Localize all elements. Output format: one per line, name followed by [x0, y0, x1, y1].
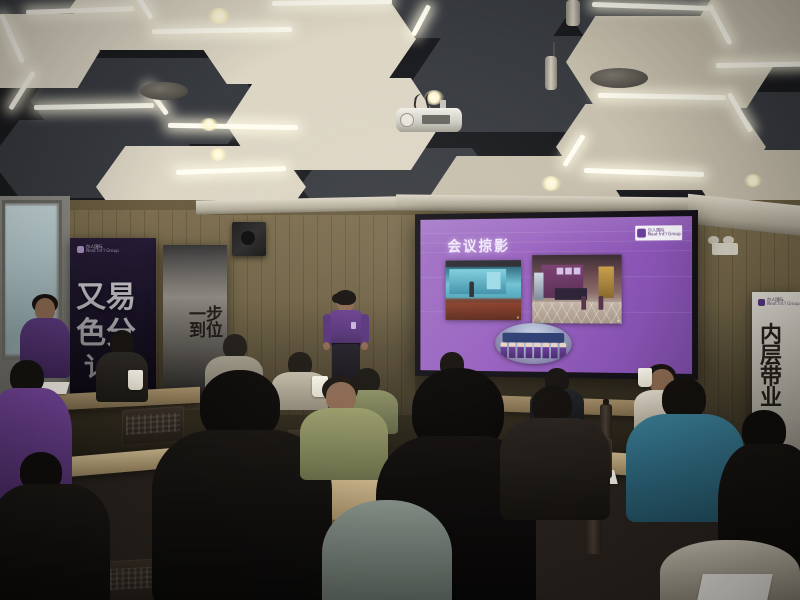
slide-photo-group [495, 323, 572, 364]
air-vent [4, 186, 66, 200]
paper-sheet [697, 574, 773, 600]
venue-doorway [599, 266, 614, 298]
presenter-arm-left [323, 314, 331, 344]
venue-banner-stand [534, 273, 543, 300]
logo-mark-icon [637, 229, 646, 238]
person-body [322, 500, 452, 600]
ceiling-projector [396, 100, 466, 134]
downlight-icon [209, 148, 227, 161]
paper-cup [128, 370, 143, 390]
slide-photo-stage: ● [446, 260, 521, 320]
ceiling-disc [590, 68, 648, 88]
stage-speaker [469, 282, 474, 297]
group-person [543, 343, 550, 359]
pendant-light [566, 0, 580, 26]
audience-person [500, 398, 610, 518]
stage-inset [487, 272, 501, 289]
group-person [560, 343, 567, 359]
exit-sign [712, 243, 738, 255]
conference-room-photo: 会议掠影 尔人国际 Neat Int'l Group ● [0, 0, 800, 600]
audience-person [0, 470, 110, 600]
audience-person [322, 500, 452, 600]
projector-lens [400, 113, 414, 127]
ceiling-disc [140, 82, 188, 100]
stage-floor [446, 303, 521, 321]
presenter-arm-right [361, 314, 369, 344]
hexagonal-ceiling [0, 0, 800, 215]
venue-person [599, 296, 604, 310]
person-body [0, 484, 110, 600]
downlight-icon [744, 174, 762, 187]
paper-cup [638, 368, 652, 387]
led-strip [716, 61, 800, 68]
group-person [509, 342, 516, 358]
slide-logo: 尔人国际 Neat Int'l Group [635, 225, 682, 240]
photo-watermark: ● [617, 319, 620, 323]
projector-indicator [454, 117, 457, 120]
projector-indicator [415, 117, 418, 120]
pendant-light [545, 56, 557, 90]
group-person [501, 342, 507, 358]
venue-backdrop [542, 265, 584, 298]
group-person [526, 343, 533, 359]
group-photo-backdrop [502, 333, 564, 343]
presenter-hand-right [361, 342, 368, 350]
presenter-badge [351, 322, 356, 329]
person-body [500, 418, 610, 520]
slide-title: 会议掠影 [447, 235, 509, 256]
projected-slide: 会议掠影 尔人国际 Neat Int'l Group ● [420, 216, 692, 374]
venue-tile [565, 268, 572, 275]
downlight-icon [208, 8, 230, 24]
presenter-hair [335, 290, 356, 305]
presenter-shirt [329, 310, 363, 346]
person-body [300, 408, 388, 480]
venue-carpet [532, 302, 621, 324]
group-photo-people [501, 342, 567, 358]
projector-panel [422, 115, 450, 124]
presenter-hand-left [323, 342, 330, 350]
downlight-icon [200, 118, 218, 131]
downlight-icon [541, 176, 561, 191]
venue-person [581, 296, 586, 310]
venue-tile [574, 268, 581, 275]
slide-photo-venue: ● [532, 255, 621, 324]
group-person [517, 342, 524, 358]
audience-person [300, 382, 388, 478]
photo-watermark: ● [517, 315, 519, 319]
venue-tile [557, 268, 564, 275]
group-person [534, 343, 541, 359]
wall-speaker [232, 222, 266, 256]
logo-line2: Neat Int'l Group [648, 232, 681, 237]
stage-led-wall [449, 269, 506, 294]
group-person [551, 343, 558, 359]
